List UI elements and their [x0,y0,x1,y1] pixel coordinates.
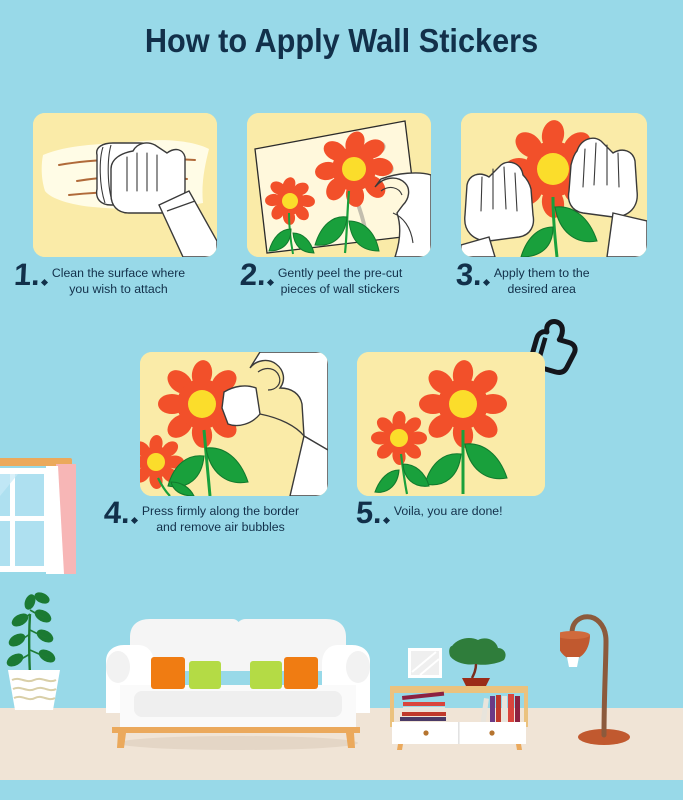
bottom-band [0,780,683,800]
pillow-green-left [189,661,221,689]
step-1-illustration [33,113,217,257]
hand-peeling-sticker-sheet-icon [247,113,431,257]
step-3-caption: 3. Apply them to the desired area [456,260,656,297]
step-3-text: Apply them to the desired area [494,260,590,297]
sideboard-with-books [386,630,532,750]
floor-lamp [560,585,640,750]
step-1-dot [41,279,48,286]
potted-plant [4,558,64,714]
infographic-poster: How to Apply Wall Stickers [0,0,683,800]
step-1-text: Clean the surface where you wish to atta… [52,260,185,297]
step-2-number: 2. [239,260,266,289]
two-hands-applying-flower-sticker-icon [461,113,647,257]
book-stack-left [400,692,446,721]
page-title: How to Apply Wall Stickers [24,22,659,60]
hand-wiping-wall-with-cloth-icon [33,113,217,257]
pillow-orange-right [284,657,318,689]
white-sofa [104,615,372,750]
step-2-illustration [247,113,431,257]
bonsai-plant [449,638,505,686]
step-3-dot [483,279,490,286]
step-2-text: Gently peel the pre-cut pieces of wall s… [278,260,402,297]
step-2-dot [267,279,274,286]
step-2-caption: 2. Gently peel the pre-cut pieces of wal… [240,260,454,297]
book-stack-right [480,694,520,726]
step-3-number: 3. [455,260,482,289]
step-1-caption: 1. Clean the surface where you wish to a… [14,260,230,297]
pillow-orange-left [151,657,185,689]
room-scene [0,430,683,800]
step-3-illustration [461,113,647,257]
step-1-number: 1. [13,260,40,289]
pillow-green-right [250,661,282,689]
